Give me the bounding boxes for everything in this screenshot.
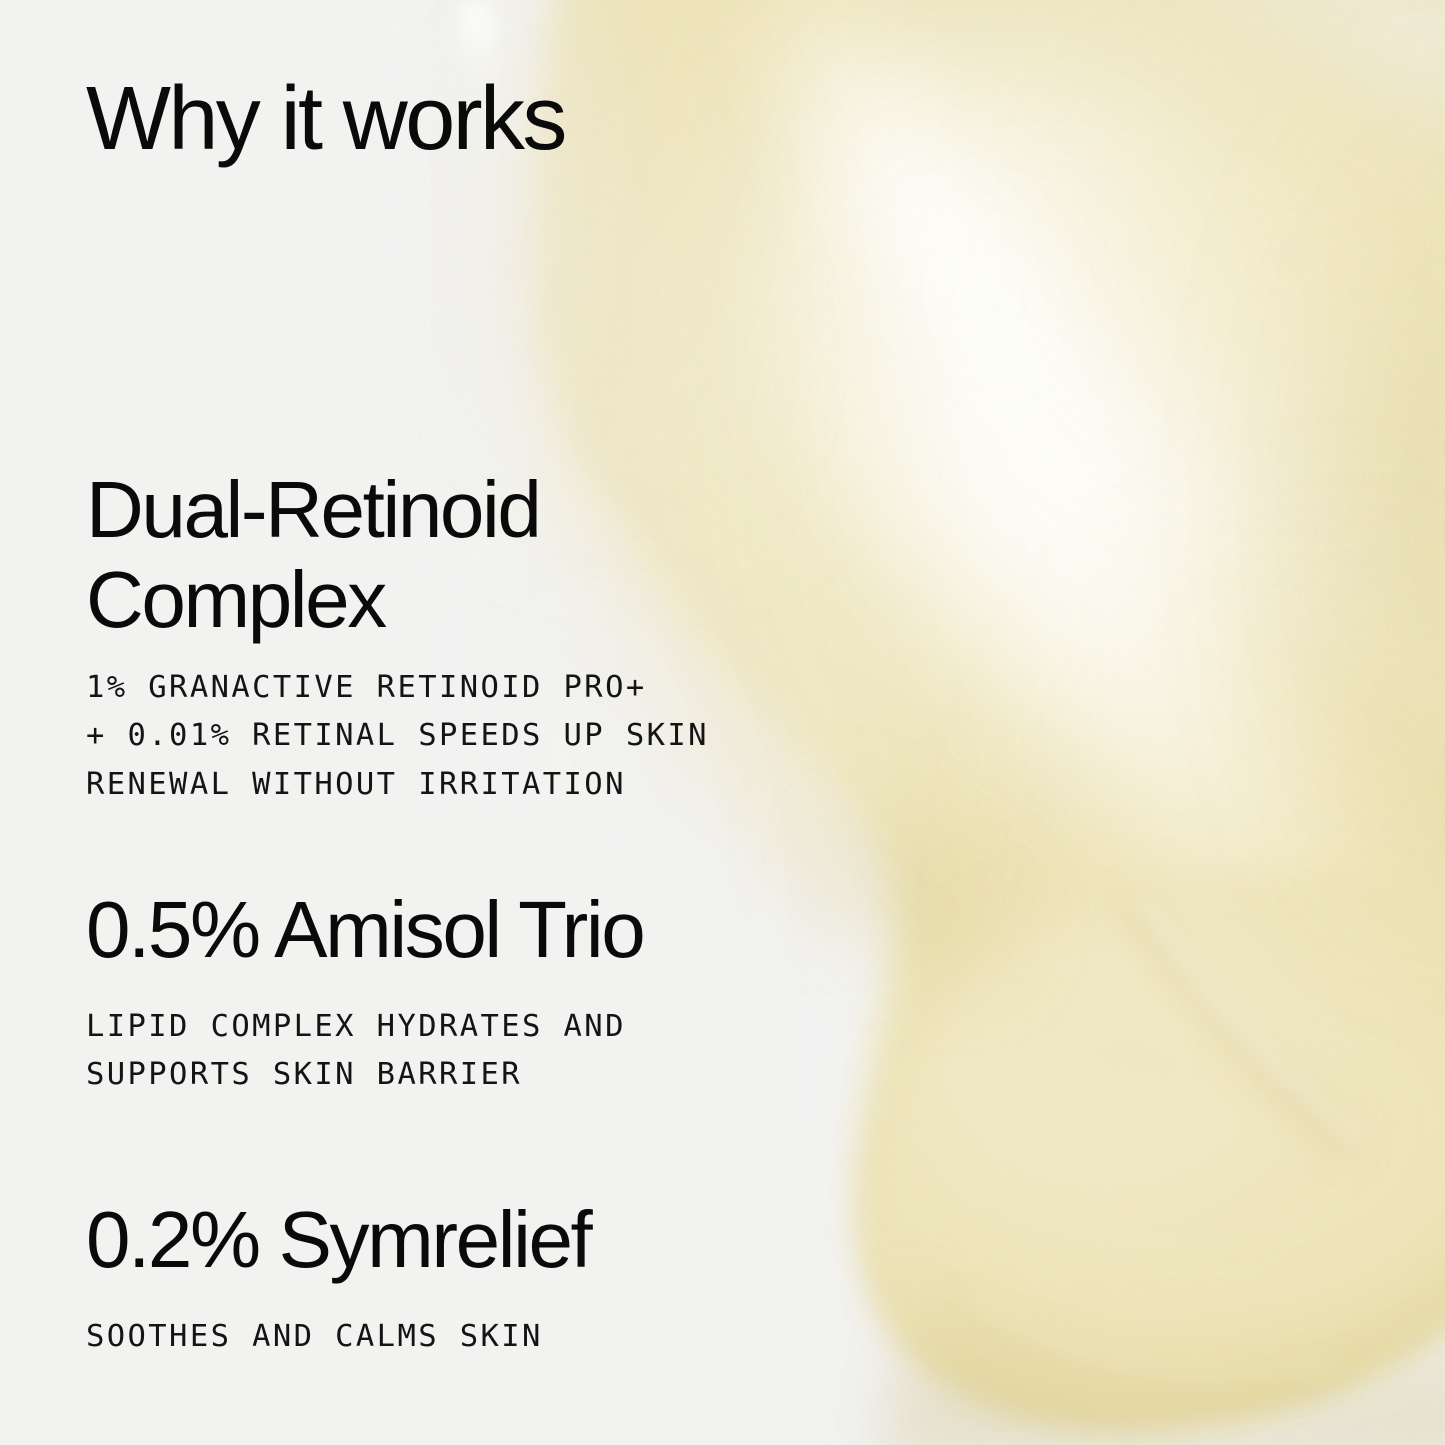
ingredient-description: SOOTHES AND CALMS SKIN [86, 1313, 590, 1361]
ingredient-heading: Dual-Retinoid Complex [86, 465, 709, 644]
ingredient-description-line-1: LIPID COMPLEX HYDRATES AND [86, 1003, 643, 1051]
ingredient-heading-line-1: 0.5% Amisol Trio [86, 885, 643, 975]
ingredient-description-line-2: SUPPORTS SKIN BARRIER [86, 1051, 643, 1099]
ingredient-description: LIPID COMPLEX HYDRATES AND SUPPORTS SKIN… [86, 1003, 643, 1099]
ingredient-description-line-1: SOOTHES AND CALMS SKIN [86, 1313, 590, 1361]
ingredient-description-line-2: + 0.01% RETINAL SPEEDS UP SKIN [86, 712, 709, 760]
ingredient-heading: 0.2% Symrelief [86, 1195, 590, 1285]
ingredient-description: 1% GRANACTIVE RETINOID PRO+ + 0.01% RETI… [86, 664, 709, 809]
ingredient-description-line-1: 1% GRANACTIVE RETINOID PRO+ [86, 664, 709, 712]
content-column: Why it works Dual-Retinoid Complex 1% GR… [0, 0, 1445, 1445]
ingredient-heading: 0.5% Amisol Trio [86, 885, 643, 975]
ingredient-section-amisol-trio: 0.5% Amisol Trio LIPID COMPLEX HYDRATES … [86, 885, 643, 1099]
ingredient-heading-line-1: Dual-Retinoid [86, 465, 709, 555]
ingredient-section-dual-retinoid-complex: Dual-Retinoid Complex 1% GRANACTIVE RETI… [86, 465, 709, 809]
page-title: Why it works [86, 74, 565, 164]
ingredient-section-symrelief: 0.2% Symrelief SOOTHES AND CALMS SKIN [86, 1195, 590, 1361]
ingredient-description-line-3: RENEWAL WITHOUT IRRITATION [86, 761, 709, 809]
product-benefits-panel: Why it works Dual-Retinoid Complex 1% GR… [0, 0, 1445, 1445]
ingredient-heading-line-2: Complex [86, 555, 709, 645]
ingredient-heading-line-1: 0.2% Symrelief [86, 1195, 590, 1285]
